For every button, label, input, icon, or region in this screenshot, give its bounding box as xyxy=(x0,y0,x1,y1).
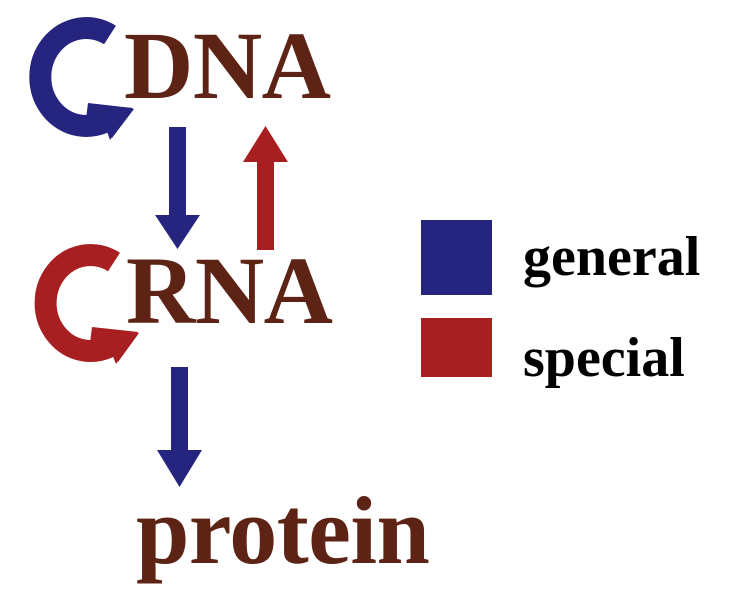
transcription-arrow xyxy=(155,127,200,249)
legend-item-general: general xyxy=(421,212,711,302)
rna-replication-circular-arrow xyxy=(46,255,139,364)
legend-swatch-general xyxy=(421,220,492,295)
legend-label-special: special xyxy=(523,330,685,386)
diagram-canvas: DNA RNA protein general special xyxy=(0,0,732,600)
translation-arrow xyxy=(157,367,202,487)
legend-swatch-special xyxy=(421,318,492,377)
legend: general special xyxy=(421,212,711,392)
node-label-rna: RNA xyxy=(126,243,332,339)
legend-label-general: general xyxy=(523,229,700,285)
legend-item-special: special xyxy=(421,302,711,392)
reverse-transcription-arrow xyxy=(243,126,288,250)
node-label-dna: DNA xyxy=(124,18,330,114)
node-label-protein: protein xyxy=(136,483,429,579)
dna-replication-circular-arrow xyxy=(40,28,134,140)
